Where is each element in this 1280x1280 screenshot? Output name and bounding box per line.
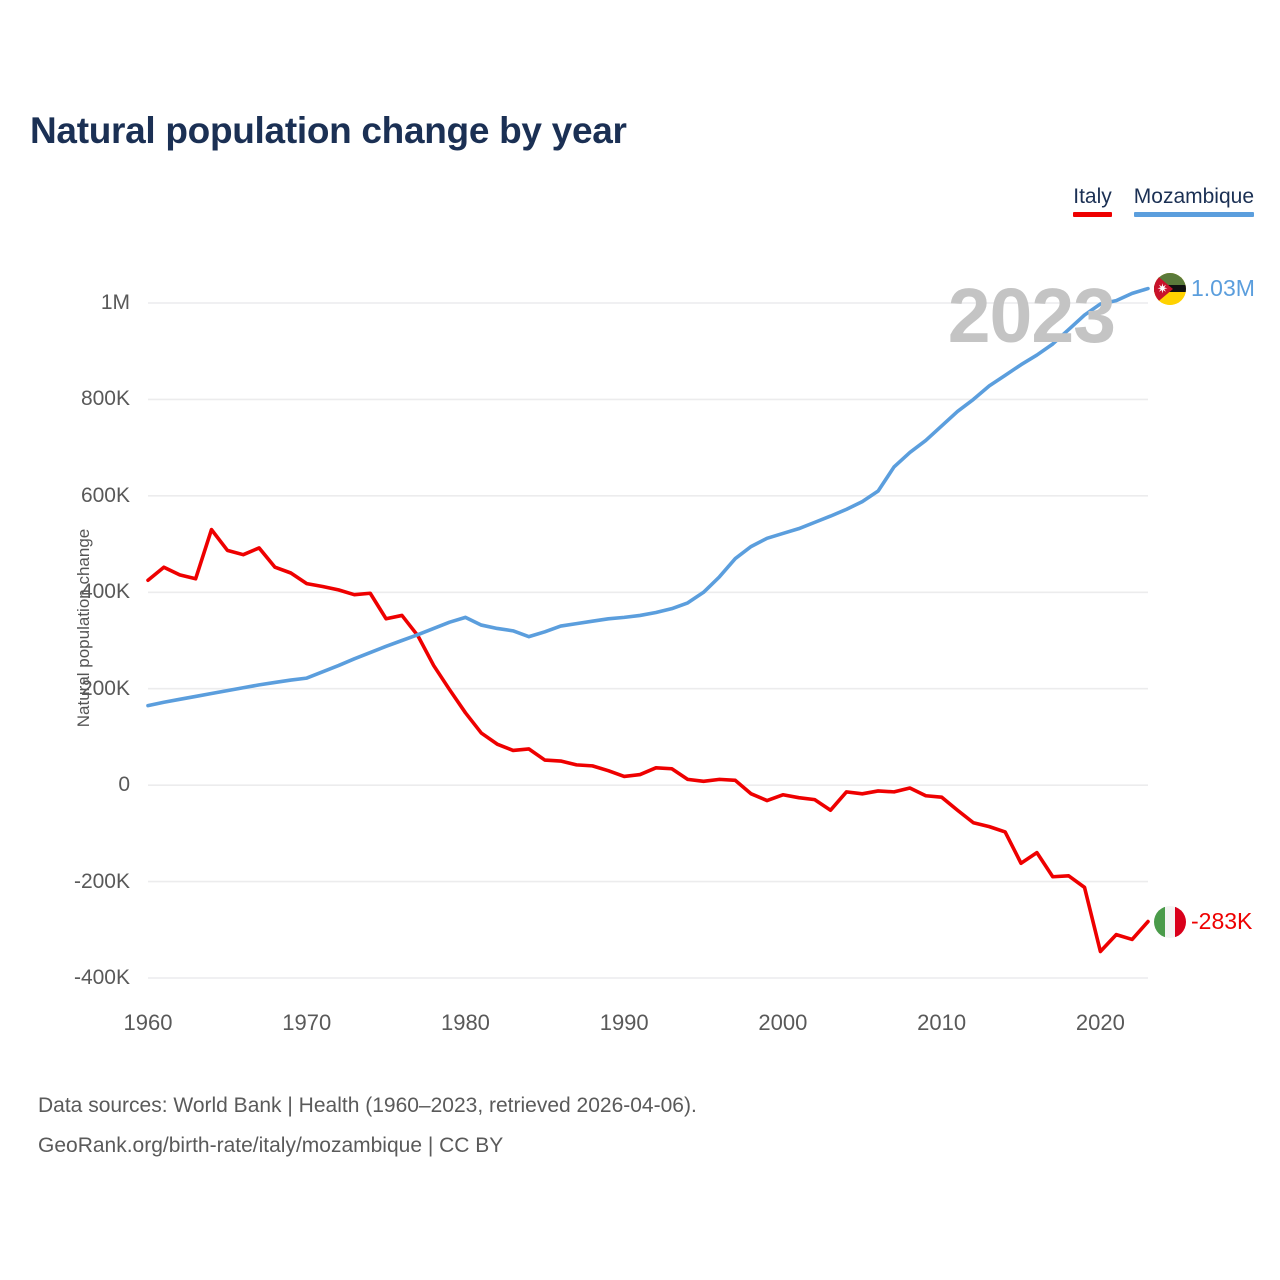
year-watermark: 2023 [948, 278, 1115, 355]
endpoint-value-mozambique: 1.03M [1191, 275, 1255, 302]
x-tick-label: 2010 [917, 1010, 966, 1036]
y-tick-label: 200K [10, 677, 130, 701]
italy-flag-icon [1154, 906, 1186, 938]
x-tick-label: 2000 [758, 1010, 807, 1036]
x-tick-label: 1990 [600, 1010, 649, 1036]
footer-line-1: Data sources: World Bank | Health (1960–… [38, 1086, 697, 1126]
y-tick-label: 800K [10, 387, 130, 411]
footer-line-2: GeoRank.org/birth-rate/italy/mozambique … [38, 1126, 697, 1166]
mozambique-flag-icon: ✷ [1154, 273, 1186, 305]
star-icon: ✷ [1157, 282, 1168, 295]
y-tick-label: 400K [10, 580, 130, 604]
y-tick-label: 0 [10, 773, 130, 797]
y-tick-label: -400K [10, 966, 130, 990]
x-tick-label: 1960 [124, 1010, 173, 1036]
y-tick-label: -200K [10, 870, 130, 894]
y-tick-label: 1M [10, 291, 130, 315]
endpoint-italy: -283K [1154, 906, 1252, 938]
y-tick-label: 600K [10, 484, 130, 508]
endpoint-value-italy: -283K [1191, 908, 1252, 935]
chart-page: Natural population change by year Italy … [0, 0, 1280, 1280]
x-tick-label: 1980 [441, 1010, 490, 1036]
endpoint-mozambique: ✷ 1.03M [1154, 273, 1255, 305]
footer-sources: Data sources: World Bank | Health (1960–… [38, 1086, 697, 1166]
x-tick-label: 1970 [282, 1010, 331, 1036]
x-tick-label: 2020 [1076, 1010, 1125, 1036]
